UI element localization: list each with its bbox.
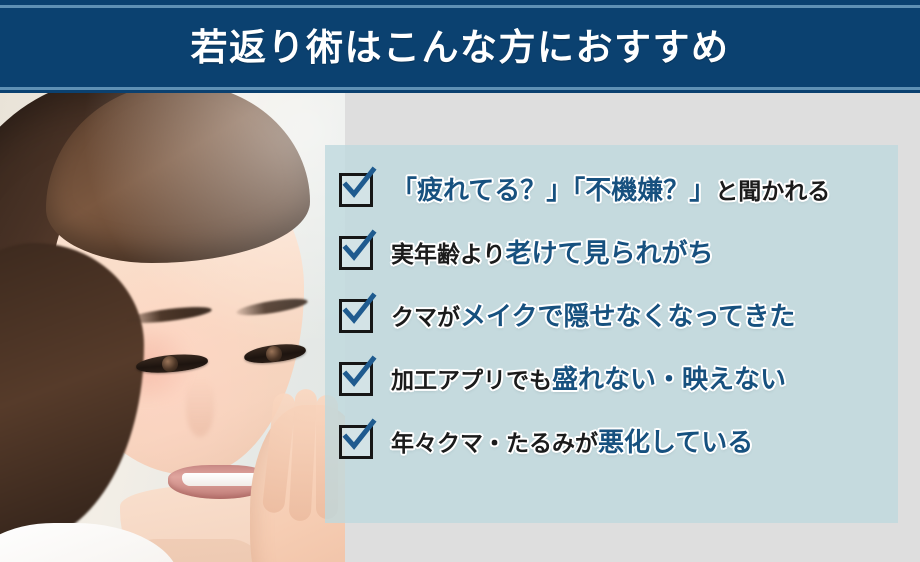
checkbox-checked-icon[interactable] [339,236,373,270]
label-base: と聞かれる [715,178,830,204]
checklist-item-label: 年々クマ・たるみが悪化している [391,429,753,455]
checklist: 「疲れてる？」「不機嫌？」と聞かれる 実年齢より老けて見られがち クマがメイクで… [325,145,898,523]
photo-fringe [46,93,310,263]
checkmark-glyph [340,355,378,393]
checkbox-checked-icon[interactable] [339,173,373,207]
checklist-item: 加工アプリでも盛れない・映えない [339,356,786,402]
checklist-item-label: クマがメイクで隠せなくなってきた [391,303,795,329]
label-highlight: 悪化している [598,427,753,457]
smiling-woman-portrait [0,93,345,562]
checklist-item: 「疲れてる？」「不機嫌？」と聞かれる [339,167,830,213]
header-top-rule [0,5,920,8]
label-highlight: 老けて見られがち [506,238,714,268]
checklist-item: クマがメイクで隠せなくなってきた [339,293,795,339]
photo-iris-left [162,356,178,372]
photo-iris-right [266,346,282,362]
checklist-item: 実年齢より老けて見られがち [339,230,714,276]
checkmark-glyph [340,166,378,204]
checklist-item-label: 加工アプリでも盛れない・映えない [391,366,786,392]
checkmark-glyph [340,229,378,267]
label-base: 加工アプリでも [391,367,552,393]
checkmark-glyph [340,292,378,330]
content-stage: 「疲れてる？」「不機嫌？」と聞かれる 実年齢より老けて見られがち クマがメイクで… [0,93,920,562]
photo-nose [186,379,214,437]
label-base: クマが [391,304,460,330]
checklist-item: 年々クマ・たるみが悪化している [339,419,753,465]
checklist-item-label: 「疲れてる？」「不機嫌？」と聞かれる [391,177,830,203]
checkbox-checked-icon[interactable] [339,425,373,459]
checklist-item-label: 実年齢より老けて見られがち [391,240,714,266]
page-header: 若返り術はこんな方におすすめ [0,0,920,93]
label-highlight: 盛れない・映えない [552,364,786,394]
checkbox-checked-icon[interactable] [339,362,373,396]
label-highlight: 「疲れてる？」「不機嫌？」 [391,175,715,205]
label-base: 年々クマ・たるみが [391,430,598,456]
checkbox-checked-icon[interactable] [339,299,373,333]
header-bottom-rule [0,87,920,90]
photo-teeth [182,473,258,486]
page-title: 若返り術はこんな方におすすめ [191,29,730,66]
label-highlight: メイクで隠せなくなってきた [460,301,795,331]
checkmark-glyph [340,418,378,456]
label-base: 実年齢より [391,241,506,267]
